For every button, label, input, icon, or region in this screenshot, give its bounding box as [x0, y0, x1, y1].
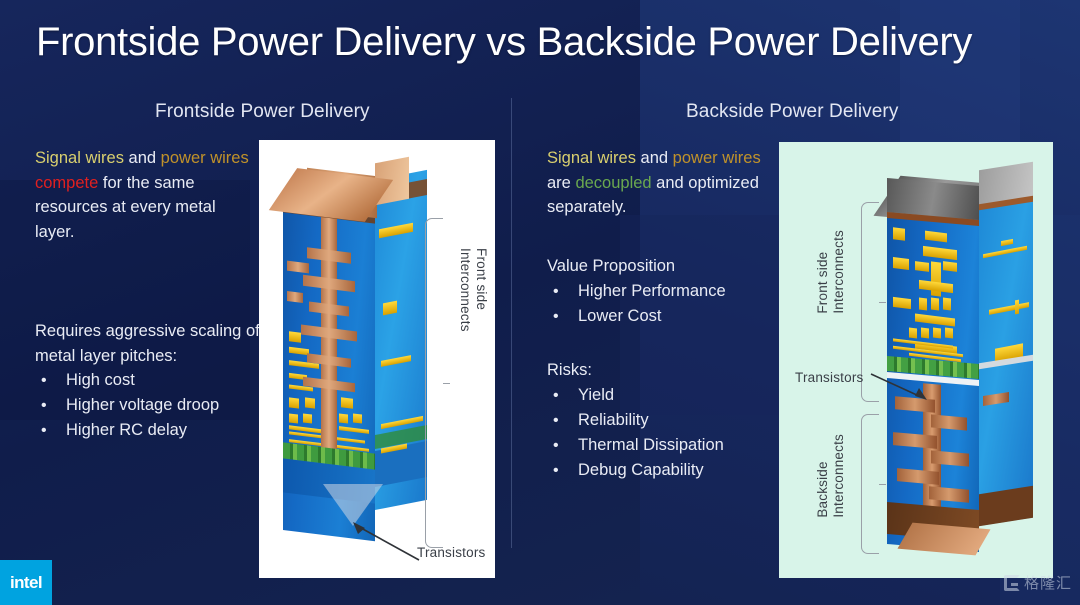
- watermark-g-icon: [1004, 575, 1020, 591]
- metal-line: [339, 413, 348, 423]
- metal-line: [943, 261, 957, 272]
- list-item: Lower Cost: [547, 304, 767, 329]
- backside-p1-and: and: [636, 149, 673, 167]
- metal-line: [289, 397, 299, 408]
- metal-line: [943, 298, 951, 311]
- intel-logo: intel: [0, 560, 52, 605]
- backside-paragraph-1: Signal wires and power wires are decoupl…: [547, 146, 762, 220]
- frontside-transistors-label: Transistors: [417, 545, 485, 560]
- backside-p1-decoupled: decoupled: [575, 174, 651, 192]
- column-header-frontside: Frontside Power Delivery: [155, 101, 370, 123]
- list-item: High cost: [35, 368, 270, 393]
- list-item: Higher voltage droop: [35, 393, 270, 418]
- frontside-p1-power-wires: power wires: [161, 149, 249, 167]
- column-divider: [511, 98, 512, 548]
- backside-diagram-panel: Front side Interconnects Transistors Bac…: [779, 142, 1053, 578]
- copper-rung: [287, 291, 303, 303]
- metal-line: [933, 328, 941, 339]
- metal-line: [289, 331, 301, 342]
- list-item: Higher RC delay: [35, 418, 270, 443]
- backside-interconnects-bracket: [861, 414, 879, 554]
- value-proposition-heading: Value Proposition: [547, 254, 767, 279]
- frontside-paragraph-1: Signal wires and power wires compete for…: [35, 146, 255, 244]
- frontside-bullet-list: High cost Higher voltage droop Higher RC…: [35, 368, 270, 443]
- metal-line-side: [1015, 300, 1019, 315]
- frontside-chip-illustration: [277, 152, 437, 552]
- metal-line: [909, 328, 917, 339]
- watermark-text: 格隆汇: [1024, 572, 1072, 593]
- value-proposition-block: Value Proposition Higher Performance Low…: [547, 254, 767, 329]
- backside-chip-illustration: [879, 154, 1049, 564]
- risks-block: Risks: Yield Reliability Thermal Dissipa…: [547, 358, 767, 483]
- metal-line: [303, 413, 312, 423]
- frontside-paragraph-2: Requires aggressive scaling of metal lay…: [35, 319, 270, 368]
- metal-line: [893, 227, 905, 240]
- backside-p1-are: are: [547, 174, 575, 192]
- metal-line: [893, 297, 911, 309]
- list-item: Debug Capability: [547, 458, 767, 483]
- list-item: Reliability: [547, 408, 767, 433]
- metal-line: [289, 413, 298, 423]
- backside-frontside-interconnects-label: Front side Interconnects: [815, 230, 847, 314]
- frontside-p1-compete: compete: [35, 174, 98, 192]
- backside-transistors-label: Transistors: [795, 370, 863, 385]
- list-item: Thermal Dissipation: [547, 433, 767, 458]
- value-proposition-list: Higher Performance Lower Cost: [547, 279, 767, 329]
- intel-logo-text: intel: [10, 573, 42, 593]
- frontside-p1-signal-wires: Signal wires: [35, 149, 124, 167]
- transistors-arrow-icon: [351, 522, 423, 564]
- list-item: Higher Performance: [547, 279, 767, 304]
- metal-line: [945, 328, 953, 339]
- transistors-arrow-icon: [871, 370, 929, 404]
- frontside-diagram-panel: Front side Interconnects Transistors: [259, 140, 495, 578]
- metal-line: [915, 261, 929, 272]
- frontside-interconnects-bracket: [425, 218, 443, 548]
- column-header-backside: Backside Power Delivery: [686, 101, 898, 123]
- frontside-interconnects-label: Front side Interconnects: [457, 248, 489, 332]
- backside-interconnects-label: Backside Interconnects: [815, 434, 847, 518]
- metal-line: [305, 397, 315, 408]
- chip-tip-shadow: [323, 484, 383, 526]
- frontside-p1-and: and: [124, 149, 161, 167]
- frontside-paragraph-2-block: Requires aggressive scaling of metal lay…: [35, 319, 270, 443]
- list-item: Yield: [547, 383, 767, 408]
- metal-line: [921, 328, 929, 339]
- slide-title: Frontside Power Delivery vs Backside Pow…: [36, 20, 972, 65]
- metal-line: [893, 257, 909, 270]
- risks-list: Yield Reliability Thermal Dissipation De…: [547, 383, 767, 483]
- metal-line: [919, 298, 927, 311]
- metal-line: [931, 298, 939, 311]
- risks-heading: Risks:: [547, 358, 767, 383]
- metal-line: [341, 397, 353, 408]
- backside-p1-power-wires: power wires: [673, 149, 761, 167]
- watermark: 格隆汇: [1004, 572, 1072, 593]
- chip-base-bottom: [897, 523, 990, 556]
- backside-p1-signal-wires: Signal wires: [547, 149, 636, 167]
- metal-line: [353, 413, 362, 423]
- slide-canvas: Frontside Power Delivery vs Backside Pow…: [0, 0, 1080, 605]
